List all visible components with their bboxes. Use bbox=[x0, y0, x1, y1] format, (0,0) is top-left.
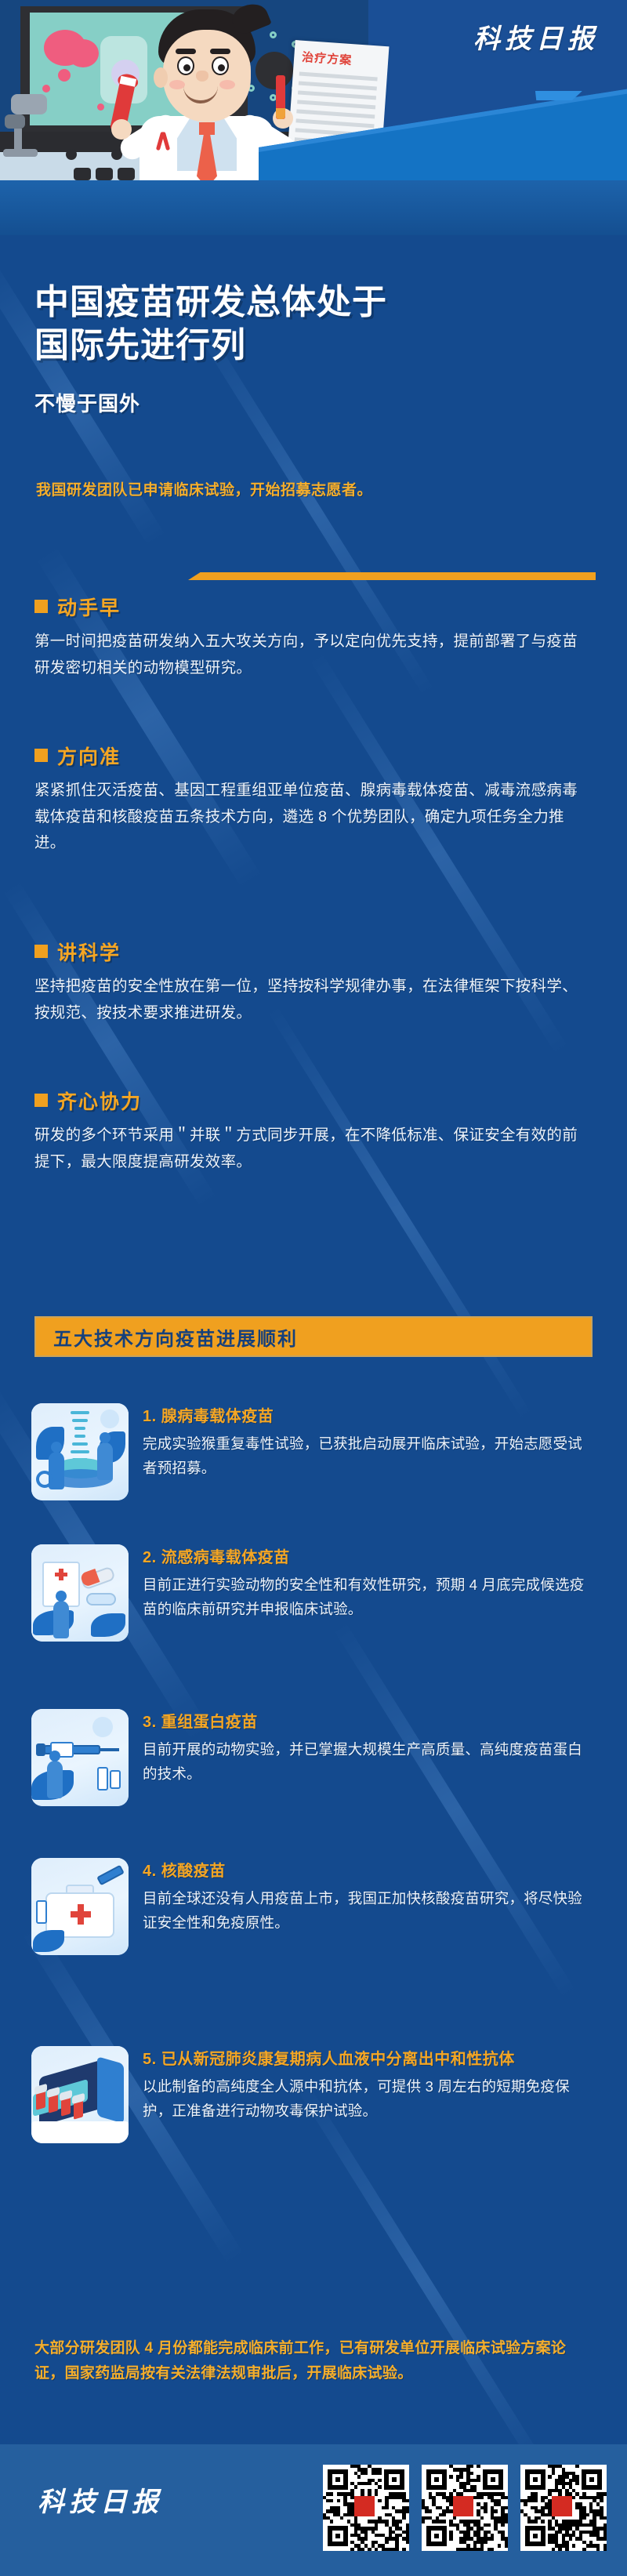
vaccine-vials-box-icon bbox=[31, 2046, 129, 2143]
bullet-square-icon bbox=[34, 749, 48, 762]
vaccine-desc-4: 目前全球还没有人用疫苗上市，我国正加快核酸疫苗研究，将尽快验证安全性和免疫原性。 bbox=[143, 1886, 596, 1935]
section-heading-2: 方向准 bbox=[34, 742, 121, 770]
section-title-4: 齐心协力 bbox=[57, 1091, 142, 1113]
vaccine-item-2: 2. 流感病毒载体疫苗 目前正进行实验动物的安全性和有效性研究，预期 4 月底完… bbox=[31, 1544, 596, 1642]
vaccine-name-1: 腺病毒载体疫苗 bbox=[161, 1408, 274, 1425]
section-body-4: 研发的多个环节采用＂并联＂方式同步开展，在不降低标准、保证安全有效的前提下，最大… bbox=[34, 1123, 593, 1175]
microscope-icon bbox=[3, 94, 58, 157]
vaccine-name-2: 流感病毒载体疫苗 bbox=[161, 1549, 290, 1566]
vaccine-title-3: 3. 重组蛋白疫苗 bbox=[143, 1711, 596, 1734]
section-body-2: 紧紧抓住灭活疫苗、基因工程重组亚单位疫苗、腺病毒载体疫苗、减毒流感病毒载体疫苗和… bbox=[34, 778, 593, 857]
vaccine-desc-2: 目前正进行实验动物的安全性和有效性研究，预期 4 月底完成候选疫苗的临床前研究并… bbox=[143, 1573, 596, 1621]
vaccine-number-5: 5. bbox=[143, 2051, 157, 2068]
vaccine-title-2: 2. 流感病毒载体疫苗 bbox=[143, 1546, 596, 1569]
section-heading-4: 齐心协力 bbox=[34, 1087, 142, 1115]
section-title-1: 动手早 bbox=[57, 597, 121, 619]
vaccine-number-1: 1. bbox=[143, 1408, 157, 1425]
masthead-logo: 科技日报 bbox=[473, 17, 599, 56]
vaccine-name-4: 核酸疫苗 bbox=[161, 1863, 226, 1880]
qr-code-row bbox=[323, 2465, 607, 2551]
vaccine-desc-3: 目前开展的动物实验，并已掌握大规模生产高质量、高纯度疫苗蛋白的技术。 bbox=[143, 1737, 596, 1786]
page-title: 中国疫苗研发总体处于 国际先进行列 bbox=[34, 281, 583, 368]
pills-capsule-icon bbox=[31, 1544, 129, 1642]
document-label: 治疗方案 bbox=[302, 49, 353, 68]
vaccine-desc-1: 完成实验猴重复毒性试验，已获批启动展开临床试验，开始志愿受试者预招募。 bbox=[143, 1431, 596, 1480]
vaccine-desc-5: 以此制备的高纯度全人源中和抗体，可提供 3 周左右的短期免疫保护，正准备进行动物… bbox=[143, 2074, 596, 2123]
medical-kit-icon bbox=[31, 1858, 129, 1955]
section-title-2: 方向准 bbox=[57, 746, 121, 768]
dna-research-icon bbox=[31, 1403, 129, 1500]
vaccine-name-5: 已从新冠肺炎康复期病人血液中分离出中和性抗体 bbox=[161, 2051, 515, 2068]
vaccine-number-4: 4. bbox=[143, 1863, 157, 1880]
section-heading-3: 讲科学 bbox=[34, 938, 121, 966]
vaccine-item-5: 5. 已从新冠肺炎康复期病人血液中分离出中和性抗体 以此制备的高纯度全人源中和抗… bbox=[31, 2046, 596, 2143]
vaccine-name-3: 重组蛋白疫苗 bbox=[161, 1714, 258, 1731]
section-body-1: 第一时间把疫苗研发纳入五大攻关方向，予以定向优先支持，提前部署了与疫苗研发密切相… bbox=[34, 629, 593, 681]
lead-paragraph: 我国研发团队已申请临床试验，开始招募志愿者。 bbox=[36, 478, 593, 499]
page-title-line-1: 中国疫苗研发总体处于 bbox=[34, 281, 583, 324]
vaccine-item-4: 4. 核酸疫苗 目前全球还没有人用疫苗上市，我国正加快核酸疫苗研究，将尽快验证安… bbox=[31, 1858, 596, 1955]
vaccine-title-5: 5. 已从新冠肺炎康复期病人血液中分离出中和性抗体 bbox=[143, 2048, 596, 2071]
infographic-page: 治疗方案 bbox=[0, 0, 627, 2576]
banner-five-tech-directions: 五大技术方向疫苗进展顺利 bbox=[34, 1316, 593, 1357]
vaccine-title-4: 4. 核酸疫苗 bbox=[143, 1859, 596, 1883]
page-title-line-2: 国际先进行列 bbox=[34, 324, 583, 367]
background-streaks bbox=[0, 0, 627, 2576]
vaccine-item-1: 1. 腺病毒载体疫苗 完成实验猴重复毒性试验，已获批启动展开临床试验，开始志愿受… bbox=[31, 1403, 596, 1500]
section-title-3: 讲科学 bbox=[57, 942, 121, 964]
vaccine-number-3: 3. bbox=[143, 1714, 157, 1731]
footer: 科技日报 bbox=[0, 2444, 627, 2576]
vaccine-number-2: 2. bbox=[143, 1549, 157, 1566]
section-heading-1: 动手早 bbox=[34, 593, 121, 621]
divider bbox=[188, 572, 596, 580]
section-body-3: 坚持把疫苗的安全性放在第一位，坚持按科学规律办事，在法律框架下按科学、按规范、按… bbox=[34, 974, 593, 1026]
page-subtitle: 不慢于国外 bbox=[34, 388, 140, 417]
qr-code-2[interactable] bbox=[422, 2465, 508, 2551]
footer-logo: 科技日报 bbox=[38, 2480, 163, 2519]
qr-code-3[interactable] bbox=[520, 2465, 607, 2551]
bullet-square-icon bbox=[34, 600, 48, 613]
qr-code-1[interactable] bbox=[323, 2465, 409, 2551]
vaccine-item-3: 3. 重组蛋白疫苗 目前开展的动物实验，并已掌握大规模生产高质量、高纯度疫苗蛋白… bbox=[31, 1709, 596, 1806]
awareness-ribbon-icon bbox=[158, 132, 169, 151]
closing-paragraph: 大部分研发团队 4 月份都能完成临床前工作，已有研发单位开展临床试验方案论证，国… bbox=[34, 2336, 593, 2387]
vaccine-title-1: 1. 腺病毒载体疫苗 bbox=[143, 1405, 596, 1428]
syringe-vial-icon bbox=[31, 1709, 129, 1806]
bullet-square-icon bbox=[34, 1094, 48, 1107]
bullet-square-icon bbox=[34, 945, 48, 958]
